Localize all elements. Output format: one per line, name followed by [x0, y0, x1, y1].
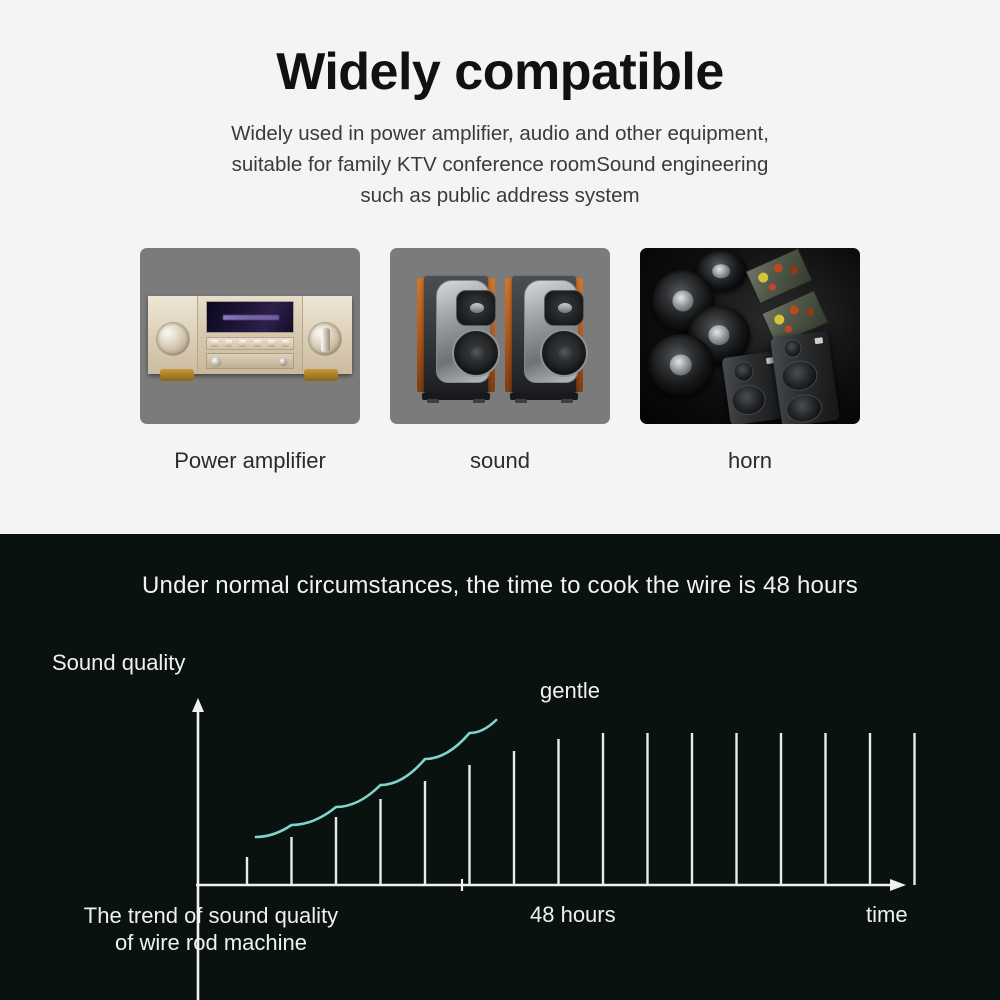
speaker-base — [510, 393, 578, 400]
compatibility-section: Widely compatible Widely used in power a… — [0, 0, 1000, 534]
tower-speaker — [770, 330, 840, 424]
product-card-caption: sound — [390, 448, 610, 474]
chart-caption-left: The trend of sound quality of wire rod m… — [46, 902, 376, 956]
capacitor — [772, 262, 784, 274]
page-title: Widely compatible — [0, 0, 1000, 102]
amplifier-chassis — [148, 296, 352, 374]
tower-woofer — [780, 358, 820, 393]
product-card-power-amplifier[interactable]: Power amplifier — [140, 248, 360, 474]
capacitor — [789, 265, 800, 276]
subtitle-line-1: Widely used in power amplifier, audio an… — [0, 118, 1000, 149]
subtitle-line-2: suitable for family KTV conference roomS… — [0, 149, 1000, 180]
capacitor — [784, 325, 793, 334]
chart-trend-curve — [256, 720, 496, 837]
speaker-base — [422, 393, 490, 400]
subtitle-line-3: such as public address system — [0, 180, 1000, 211]
amplifier-button — [239, 340, 246, 347]
capacitor — [773, 313, 786, 326]
speaker-woofer — [452, 329, 500, 377]
power-amplifier-photo — [140, 248, 360, 424]
page-subtitle: Widely used in power amplifier, audio an… — [0, 118, 1000, 211]
speaker-right — [505, 276, 583, 396]
chart-x-axis-label: time — [866, 902, 908, 928]
product-card-caption: horn — [640, 448, 860, 474]
amplifier-button — [254, 340, 261, 347]
chart-y-axis-arrow — [192, 698, 204, 712]
product-card-list: Power amplifier — [0, 248, 1000, 474]
bookshelf-speakers-photo — [390, 248, 610, 424]
capacitor — [805, 307, 816, 318]
amplifier-lower-control-row — [206, 353, 294, 369]
product-card-sound[interactable]: sound — [390, 248, 610, 474]
chart-bars — [247, 733, 915, 885]
product-card-caption: Power amplifier — [140, 448, 360, 474]
amplifier-left-binding-post — [160, 369, 194, 381]
capacitor — [768, 283, 777, 292]
amplifier-button — [282, 340, 289, 347]
speaker-pair — [390, 248, 610, 424]
amplifier-button — [211, 340, 218, 347]
chart-caption-left-line-2: of wire rod machine — [46, 929, 376, 956]
speaker-baffle — [436, 280, 490, 383]
speaker-woofer — [540, 329, 588, 377]
amplifier-left-knob — [156, 322, 190, 356]
tower-tweeter — [732, 360, 755, 383]
tower-highlight — [814, 337, 823, 344]
sound-quality-chart-section: Under normal circumstances, the time to … — [0, 534, 1000, 1000]
amplifier-button-row — [206, 337, 294, 350]
speaker-driver — [648, 334, 714, 396]
amplifier-right-binding-post — [304, 369, 338, 381]
speaker-tweeter — [456, 290, 496, 326]
amplifier-button — [268, 340, 275, 347]
amplifier-volume-knob — [308, 322, 342, 356]
amplifier-display-screen — [206, 301, 294, 333]
capacitor — [788, 304, 800, 316]
tower-tweeter — [782, 338, 802, 358]
tower-woofer — [730, 383, 768, 417]
driver-collection-backdrop — [640, 248, 860, 424]
speaker-cabinet — [424, 276, 488, 394]
capacitor — [757, 271, 770, 284]
speaker-baffle — [524, 280, 578, 383]
chart-caption-48-hours: 48 hours — [530, 902, 616, 928]
speaker-tweeter — [544, 290, 584, 326]
speaker-drivers-photo — [640, 248, 860, 424]
speaker-cabinet — [512, 276, 576, 394]
product-card-horn[interactable]: horn — [640, 248, 860, 474]
speaker-left — [417, 276, 495, 396]
chart-caption-left-line-1: The trend of sound quality — [46, 902, 376, 929]
amplifier-button — [225, 340, 232, 347]
chart-x-axis-arrow — [890, 879, 906, 891]
tower-woofer — [784, 392, 824, 424]
